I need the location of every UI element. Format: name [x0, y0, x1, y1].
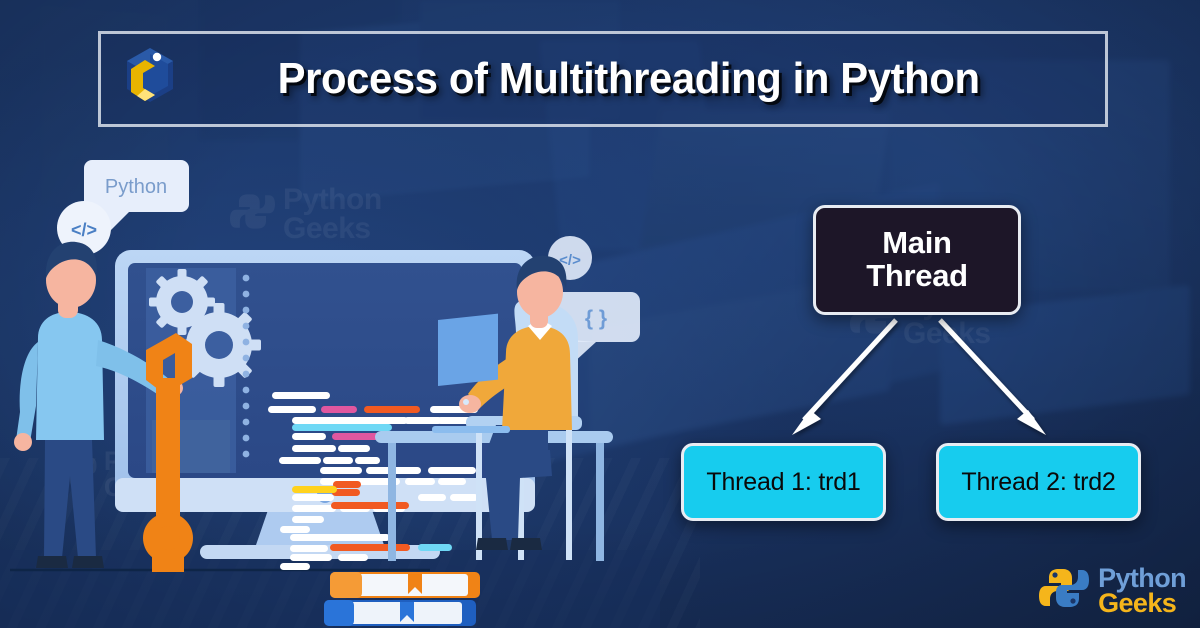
arrow-to-thread-1 [792, 320, 896, 435]
thread-1-label: Thread 1: trd1 [706, 468, 860, 497]
arrow-to-thread-2 [940, 320, 1046, 435]
header-banner: Process of Multithreading in Python [98, 31, 1108, 127]
hero-illustration: Python </> </> { } [0, 120, 660, 628]
brand-text: Python Geeks [1098, 566, 1186, 616]
thread-1-node[interactable]: Thread 1: trd1 [681, 443, 886, 521]
svg-text:{ }: { } [585, 307, 607, 330]
main-thread-node[interactable]: Main Thread [813, 205, 1021, 315]
main-thread-label-line1: Main [882, 225, 951, 260]
techvidvan-hex-logo-icon [119, 44, 181, 114]
brand-line-1: Python [1098, 566, 1186, 591]
thread-2-node[interactable]: Thread 2: trd2 [936, 443, 1141, 521]
svg-text:</>: </> [71, 220, 97, 240]
pythongeeks-brand-logo: Python Geeks [1039, 565, 1186, 616]
threading-diagram: Main Thread Thread 1: trd1 Thread 2: trd… [640, 170, 1200, 580]
thread-2-label: Thread 2: trd2 [961, 468, 1115, 497]
page-title: Process of Multithreading in Python [214, 54, 1069, 104]
main-thread-label-line2: Thread [866, 258, 968, 293]
brand-line-2: Geeks [1098, 591, 1186, 616]
python-snake-icon [1039, 565, 1089, 616]
svg-text:Python: Python [105, 176, 167, 198]
